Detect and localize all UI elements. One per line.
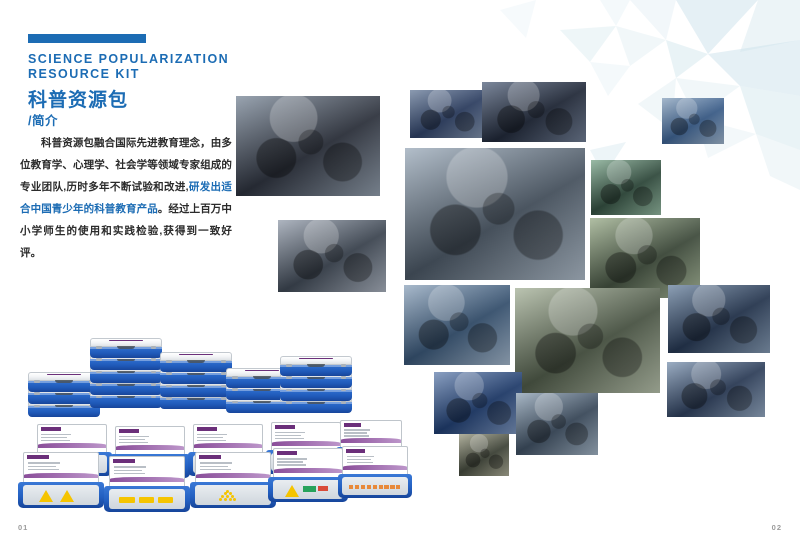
kit-stack-5-box-0-clip-left	[286, 401, 291, 404]
kit-open-b3-lid-line-1	[200, 462, 232, 464]
kit-open-b3-inner-lid	[195, 452, 271, 486]
kit-open-a4-lid-line-3	[275, 438, 304, 440]
kit-open-a3-lid-label	[197, 427, 218, 431]
kit-stack-2-box-1-handle	[117, 384, 134, 386]
poly-triangle-7	[560, 26, 616, 62]
kit-stack-5-box-2-clip-left	[286, 376, 291, 379]
kit-stack-1-box-2-clip-left	[34, 380, 39, 383]
poly-triangle-15	[756, 134, 800, 190]
kit-open-b4-tray	[268, 477, 348, 502]
kit-open-a3-lid-line-2	[197, 437, 223, 439]
kit-stack-1-box-0-clip-left	[34, 405, 39, 408]
kit-stack-5-box-3-clip-left	[286, 364, 291, 367]
kit-stack-2-box-0-clip-left	[96, 396, 101, 399]
kit-stack-2-box-3-handle	[117, 359, 134, 361]
kit-open-a1-lid-label	[41, 427, 62, 431]
kit-open-b5-lid-graphic	[343, 465, 406, 470]
photo-teacher-demo-case: 教师演示工具箱	[236, 96, 380, 196]
kit-open-b5-part-strip-3	[367, 485, 371, 489]
kit-open-b2-part-bar-2	[158, 497, 173, 503]
kit-open-b3-part-dot-3-1	[224, 498, 227, 501]
kit-open-b1-inner-lid	[23, 452, 99, 486]
kit-open-b1-lid-line-2	[28, 466, 56, 468]
kit-open-b5-parts	[345, 478, 404, 494]
kit-open-b4-lid-graphic	[274, 468, 342, 473]
kit-open-a5-lid-line-1	[344, 429, 370, 431]
photo-uniform-students: 校服学生参观	[434, 372, 522, 434]
poly-triangle-2	[630, 0, 676, 40]
poly-triangle-5	[600, 0, 630, 26]
kit-open-b5-part-strip-6	[384, 485, 388, 489]
kit-stack-1-box-2-label	[47, 374, 81, 375]
title-chinese: 科普资源包	[28, 89, 258, 112]
photo-kids-reading-kit: 孩子们翻阅资源包	[278, 220, 386, 292]
kit-open-b1	[18, 452, 104, 508]
kit-stack-3-box-0-handle	[187, 398, 204, 400]
photo-visitors-models: 参观者与模型	[459, 434, 509, 476]
photo-expo-booth: 展会展台	[667, 362, 765, 417]
kit-open-b1-lid-graphic	[24, 473, 98, 478]
kit-open-b1-tray	[18, 482, 104, 508]
kit-stack-3-box-3-clip-left	[166, 360, 171, 363]
kit-open-a1-lid-line-2	[41, 437, 67, 439]
kit-open-a5-lid-label	[344, 423, 362, 427]
intro-paragraph: 科普资源包融合国际先进教育理念，由多位教育学、心理学、社会学等领域专家组成的专业…	[20, 132, 232, 264]
photo-teachers-with-kits-texture	[482, 82, 586, 142]
kit-open-b1-part-tri-2	[60, 490, 74, 502]
kit-stack-2-box-1-clip-right	[151, 383, 156, 386]
photo-student-sorting-texture	[662, 98, 724, 144]
photo-student-sorting: 学生整理器材	[662, 98, 724, 144]
kit-open-b3-lid-line-3	[200, 469, 231, 471]
kit-open-a2-inner-lid	[115, 426, 185, 457]
kit-stack-3-box-3-handle	[187, 360, 204, 362]
kit-open-a3-lid-line-3	[197, 440, 226, 442]
photo-headphone-kids: 学生佩戴耳机体验	[515, 288, 660, 393]
photo-kids-with-disc-texture	[405, 148, 585, 280]
page-number-right: 02	[772, 523, 782, 532]
kit-open-b5-lid-line-1	[347, 456, 375, 458]
kit-open-a5-lid-line-3	[344, 435, 369, 437]
kit-open-b3-parts	[199, 486, 268, 504]
kit-open-b3-lid-line-2	[200, 466, 228, 468]
kit-open-a1-lid-graphic	[38, 443, 106, 448]
kit-open-b4-lid-line-3	[277, 464, 306, 466]
photo-kids-reading-kit-texture	[278, 220, 386, 292]
kit-stack-2-box-4-clip-right	[151, 346, 156, 349]
poly-triangle-8	[590, 62, 630, 96]
kit-open-b5-part-strip-2	[361, 485, 365, 489]
kit-open-a5-lid-graphic	[341, 438, 401, 442]
photo-classroom-overview: 科普教室全景	[410, 90, 484, 138]
kit-stack-1-box-1-handle	[55, 393, 72, 395]
kit-open-b5	[338, 446, 412, 498]
poly-triangle-10	[740, 86, 800, 150]
photo-child-light-table-texture	[591, 160, 661, 215]
poly-triangle-3	[666, 40, 708, 78]
kit-stack-4-box-0-clip-left	[232, 401, 237, 404]
kit-open-b3-lid-graphic	[196, 473, 270, 478]
kit-open-b5-lid-line-2	[347, 459, 371, 461]
kit-stack-2-box-3-clip-right	[151, 358, 156, 361]
kit-open-a2-lid-line-3	[119, 442, 148, 444]
kit-stack-3-box-0-clip-left	[166, 397, 171, 400]
photo-exhibition-hall: 科普展览大厅	[516, 393, 598, 455]
kit-stack-1-box-2-handle	[55, 380, 72, 382]
photo-visitors-models-texture	[459, 434, 509, 476]
kit-open-b2-inner-lid	[109, 456, 185, 490]
kit-open-b3-part-dot-3-0	[219, 498, 222, 501]
page-number-left: 01	[18, 523, 28, 532]
kit-open-b2-lid-line-1	[114, 466, 146, 468]
kit-open-b2-lid-graphic	[110, 477, 184, 482]
kit-open-a1-inner-lid	[37, 424, 107, 455]
kit-open-a2-lid-line-1	[119, 436, 149, 438]
kit-open-b4-inner-lid	[273, 448, 343, 480]
kit-open-a4-lid-label	[275, 425, 296, 429]
photo-headphone-kids-texture	[515, 288, 660, 393]
kit-stack-2-box-0-clip-right	[151, 396, 156, 399]
photo-exhibition-hall-texture	[516, 393, 598, 455]
photo-classroom-blue-case: 教室蓝色工具箱体验	[404, 285, 510, 365]
title-chinese-subtitle: /简介	[28, 113, 258, 129]
kit-open-b5-part-strip-5	[379, 485, 383, 489]
kit-stack-1-box-1-clip-left	[34, 392, 39, 395]
kit-stack-2-box-0-base	[90, 396, 162, 407]
kit-open-b3-lid-label	[199, 455, 221, 459]
kit-open-b4-parts	[276, 481, 340, 498]
kit-stack-5-box-0-clip-right	[341, 401, 346, 404]
poly-triangle-0	[676, 0, 758, 54]
kit-stack-2-box-2-base	[90, 372, 162, 383]
kit-open-b4-lid-label	[277, 451, 298, 455]
page-title: SCIENCE POPULARIZATION RESOURCE KIT 科普资源…	[28, 34, 258, 129]
photo-classroom-blue-case-texture	[404, 285, 510, 365]
kit-stack-5-box-2-handle	[307, 377, 324, 379]
kit-stack-5-box-3	[280, 356, 352, 376]
kit-open-a1-lid-line-1	[41, 434, 71, 436]
kit-stack-5-box-2-clip-right	[341, 376, 346, 379]
kit-open-b4	[268, 448, 348, 502]
kit-stack-5-box-3-clip-right	[341, 364, 346, 367]
kit-open-b5-part-strip-0	[349, 485, 353, 489]
kit-open-b2-lid-line-3	[114, 473, 145, 475]
kit-open-b5-tray	[338, 474, 412, 498]
photo-expo-booth-texture	[667, 362, 765, 417]
kit-open-b2-tray	[104, 486, 190, 512]
kit-open-b2-part-bar-0	[119, 497, 134, 503]
title-accent-rule	[28, 34, 146, 43]
kit-open-a3-lid-graphic	[194, 443, 262, 448]
kit-open-a4-lid-graphic	[272, 441, 340, 446]
kit-stack-2-box-3-clip-left	[96, 358, 101, 361]
photo-classroom-overview-texture	[410, 90, 484, 138]
kit-open-b2	[104, 456, 190, 512]
kit-open-a2-lid-label	[119, 429, 140, 433]
kit-open-a2-lid-graphic	[116, 445, 184, 450]
kit-stack-5-box-3-label	[299, 358, 333, 359]
kit-open-b4-part-tri	[285, 485, 299, 497]
poly-triangle-1	[740, 0, 800, 52]
kit-open-b4-lid-line-2	[277, 461, 303, 463]
kit-stack-3-box-2-clip-left	[166, 372, 171, 375]
kit-open-b2-parts	[113, 490, 182, 508]
kit-open-b5-lid-line-3	[347, 462, 374, 464]
photo-child-light-table: 儿童光学实验台	[591, 160, 661, 215]
kit-open-b5-lid-label	[346, 449, 365, 453]
kit-open-a4-lid-line-2	[275, 435, 301, 437]
kit-stack-5-box-1-clip-left	[286, 389, 291, 392]
kit-open-b4-lid-line-1	[277, 458, 307, 460]
photo-kids-with-disc: 学生手持实验圆盘	[405, 148, 585, 280]
kit-stack-5-box-1-base	[280, 390, 352, 401]
kit-open-b2-lid-line-2	[114, 470, 142, 472]
kit-stack-3-box-0-clip-right	[221, 397, 226, 400]
kit-open-b5-part-strip-1	[355, 485, 359, 489]
kit-open-a3-inner-lid	[193, 424, 263, 455]
kit-open-a2-lid-line-2	[119, 439, 145, 441]
kit-stack-3-box-3	[160, 352, 232, 372]
photo-uniform-students-texture	[434, 372, 522, 434]
kit-stack-3-box-2-clip-right	[221, 372, 226, 375]
brochure-page: SCIENCE POPULARIZATION RESOURCE KIT 科普资源…	[0, 0, 800, 546]
kit-open-b5-part-strip-4	[373, 485, 377, 489]
kit-stack-3-box-1-base	[160, 386, 232, 397]
kit-stack-2-box-4-label	[109, 340, 143, 341]
kit-open-b4-part-green	[303, 486, 316, 492]
kit-open-a1-lid-line-3	[41, 440, 70, 442]
kit-stack-5-box-3-handle	[307, 364, 324, 366]
kit-stack-3-box-2-handle	[187, 373, 204, 375]
kit-stack-2-box-4-clip-left	[96, 346, 101, 349]
kit-stack-4-box-2-label	[245, 370, 279, 371]
kit-open-b2-part-bar-1	[139, 497, 154, 503]
kit-stack-5-box-0-handle	[307, 402, 324, 404]
kit-open-a3-lid-line-1	[197, 434, 227, 436]
kit-stack-2-box-2-clip-left	[96, 371, 101, 374]
product-kit-cluster	[18, 330, 398, 490]
kit-open-b1-part-tri-1	[39, 490, 53, 502]
kit-open-b3-part-dot-3-2	[229, 498, 232, 501]
kit-stack-2-box-4	[90, 338, 162, 358]
kit-open-b1-lid-line-3	[28, 469, 59, 471]
photo-teachers-with-kits: 教师与资源包合影	[482, 82, 586, 142]
kit-open-b4-part-red	[318, 486, 328, 491]
kit-stack-2-box-2-clip-right	[151, 371, 156, 374]
kit-stack-5-box-1-clip-right	[341, 389, 346, 392]
photo-headphone-girl: 耳机互动体验	[668, 285, 770, 353]
poly-triangle-4	[708, 40, 800, 96]
title-english: SCIENCE POPULARIZATION RESOURCE KIT	[28, 52, 258, 82]
kit-open-b3-tray	[190, 482, 276, 508]
poly-triangle-6	[616, 26, 666, 66]
kit-open-a4-lid-line-1	[275, 432, 305, 434]
kit-stack-4-box-1-handle	[253, 389, 270, 391]
kit-open-b1-lid-line-1	[28, 462, 60, 464]
poly-triangle-16	[500, 0, 536, 38]
kit-stack-4-box-2-handle	[253, 376, 270, 378]
kit-open-b2-lid-label	[113, 459, 135, 463]
kit-stack-2-box-0-handle	[117, 396, 134, 398]
kit-stack-2-box-1-clip-left	[96, 383, 101, 386]
kit-stack-3-box-3-label	[179, 354, 213, 355]
kit-open-b1-parts	[27, 486, 96, 504]
kit-open-b3-part-dot-3-3	[233, 498, 236, 501]
kit-stack-4-box-2-clip-left	[232, 376, 237, 379]
kit-open-b3	[190, 452, 276, 508]
photo-teacher-demo-case-texture	[236, 96, 380, 196]
kit-open-a5-lid-line-2	[344, 432, 367, 434]
kit-open-b5-inner-lid	[342, 446, 407, 477]
kit-stack-3-box-1-clip-left	[166, 385, 171, 388]
kit-stack-3-box-1-clip-right	[221, 385, 226, 388]
kit-open-b1-lid-label	[27, 455, 49, 459]
kit-stack-3-box-3-clip-right	[221, 360, 226, 363]
kit-open-b5-part-strip-8	[396, 485, 400, 489]
kit-open-b5-part-strip-7	[390, 485, 394, 489]
photo-headphone-girl-texture	[668, 285, 770, 353]
kit-stack-2-box-4-handle	[117, 346, 134, 348]
kit-stack-4-box-1-clip-left	[232, 388, 237, 391]
